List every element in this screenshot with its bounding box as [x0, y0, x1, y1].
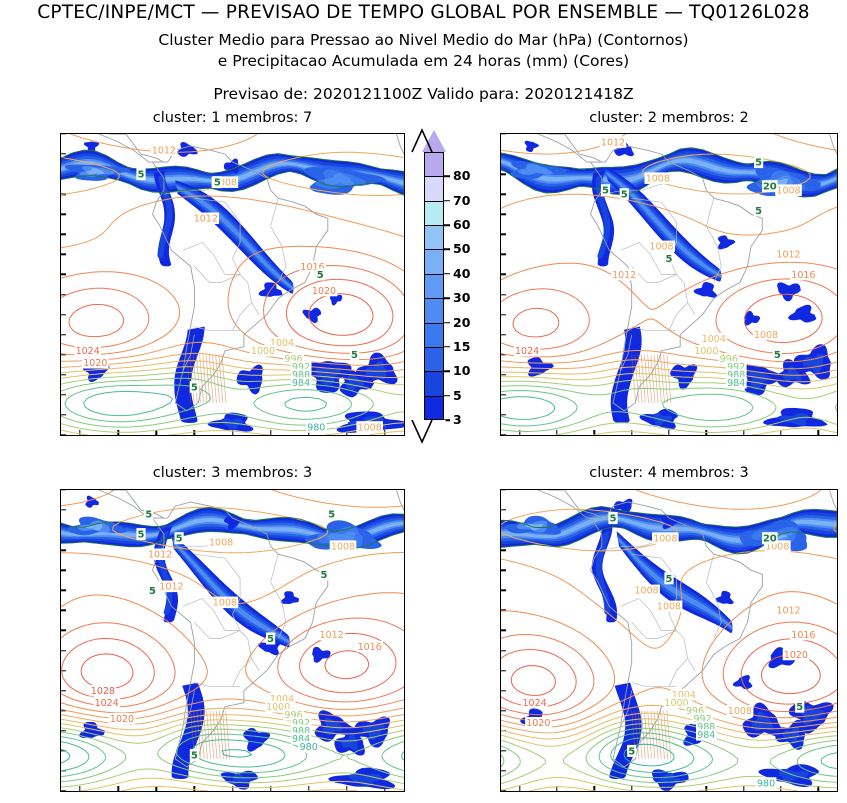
- contour-label: 1016: [791, 270, 815, 281]
- precip-fill-region: [302, 308, 321, 323]
- precip-fill-region: [312, 647, 330, 663]
- country-border: [233, 303, 252, 331]
- colorbar-band: [424, 298, 444, 322]
- colorbar-label: 80: [453, 170, 470, 183]
- contour-label: 1008: [776, 186, 800, 197]
- colorbar-band: [424, 201, 444, 225]
- colorbar-tick: [444, 395, 450, 397]
- contour-label: 1008: [646, 174, 670, 185]
- contour-label: 1012: [194, 214, 218, 225]
- precip-fill-region: [718, 235, 735, 249]
- contour-label: 5: [621, 190, 628, 201]
- precip-fill-region: [611, 327, 642, 423]
- contour-label: 1000: [694, 346, 718, 357]
- colorbar-band: [424, 347, 444, 371]
- colorbar-band: [424, 152, 444, 176]
- contour-label: 1012: [612, 270, 636, 281]
- contour-label: 1008: [728, 706, 752, 717]
- subtitle-line-2: e Precipitacao Acumulada em 24 horas (mm…: [0, 52, 847, 70]
- coastline: [830, 134, 838, 331]
- colorbar-tick: [444, 224, 450, 226]
- frontal-hatch-line: [226, 711, 230, 759]
- contour-label: 5: [351, 350, 358, 361]
- forecast-run-line: Previsao de: 2020121100Z Valido para: 20…: [0, 85, 847, 103]
- contour-label: 1012: [776, 606, 800, 617]
- colorbar-tick: [444, 371, 450, 373]
- map-panel-cluster-2[interactable]: 15N10N5NEQ5S10S15S20S25S30S35S40S45S50S5…: [500, 133, 838, 436]
- colorbar-under-arrow: [422, 420, 446, 442]
- colorbar-band: [424, 323, 444, 347]
- contour-label: 980: [307, 422, 325, 433]
- contour-label: 984: [697, 730, 715, 741]
- contour-label: 1008: [649, 242, 673, 253]
- contour-label: 5: [191, 750, 198, 761]
- colorbar-band: [424, 176, 444, 200]
- frontal-hatch-line: [216, 711, 220, 759]
- precip-fill-region: [715, 591, 733, 604]
- colorbar-label: 60: [453, 219, 470, 232]
- coastline: [531, 134, 602, 162]
- subtitle-line-1: Cluster Medio para Pressao ao Nivel Medi…: [0, 31, 847, 49]
- frontal-hatch-line: [648, 355, 652, 403]
- contour-label: 1024: [523, 698, 547, 709]
- contour-label: 5: [755, 158, 762, 169]
- colorbar-band: [424, 396, 444, 420]
- contour-label: 1024: [95, 698, 119, 709]
- contour-label: 1008: [358, 422, 382, 433]
- contour-label: 5: [628, 746, 635, 757]
- contour-label: 5: [602, 186, 609, 197]
- contour-label: 5: [666, 574, 673, 585]
- precip-fill-region: [788, 305, 816, 323]
- contour-label: 5: [176, 534, 183, 545]
- frontal-hatch-line: [651, 711, 655, 759]
- map-panel-cluster-3[interactable]: 15N10N5NEQ5S10S15S20S25S30S35S40S45S50S5…: [60, 489, 405, 792]
- contour-label: 1004: [702, 334, 726, 345]
- frontal-hatch-line: [216, 355, 220, 403]
- precip-fill-region: [525, 141, 540, 152]
- map-plot-area: 1012100810081008101210121016102410041000…: [501, 134, 837, 435]
- frontal-hatch-line: [651, 355, 655, 403]
- panel-title-cluster-1: cluster: 1 membros: 7: [60, 110, 405, 126]
- precip-fill-region: [85, 496, 99, 508]
- contour-label: 1012: [320, 630, 344, 641]
- colorbar-band: [424, 274, 444, 298]
- contour-label: 5: [149, 586, 156, 597]
- contour-label: 5: [328, 510, 335, 521]
- contour-label: 5: [214, 178, 221, 189]
- frontal-hatch-line: [654, 711, 658, 759]
- contour-label: 1020: [784, 650, 808, 661]
- contour-label: 5: [317, 270, 324, 281]
- country-border: [233, 659, 252, 687]
- contour-label: 5: [321, 570, 328, 581]
- contour-label: 980: [300, 742, 318, 753]
- contour-label: 1012: [159, 582, 183, 593]
- contour-label: 1020: [526, 718, 550, 729]
- contour-label: 20: [763, 534, 777, 545]
- panel-title-cluster-3: cluster: 3 membros: 3: [60, 465, 405, 481]
- colorbar-label: 70: [453, 194, 470, 207]
- contour-label: 1020: [110, 714, 134, 725]
- contour-label: 984: [727, 378, 745, 389]
- panel-title-cluster-2: cluster: 2 membros: 2: [500, 110, 838, 126]
- colorbar-label: 40: [453, 268, 470, 281]
- contour-label: 1020: [83, 358, 107, 369]
- frontal-hatch-line: [641, 355, 645, 403]
- contour-label: 5: [755, 206, 762, 217]
- contour-label: 5: [145, 510, 152, 521]
- precip-fill-region: [744, 311, 760, 326]
- colorbar-tick: [444, 297, 450, 299]
- colorbar-label: 10: [453, 365, 470, 378]
- contour-label: 1016: [358, 642, 382, 653]
- contour-label: 1008: [657, 602, 681, 613]
- frontal-hatch-line: [223, 711, 227, 759]
- contour-label: 5: [138, 170, 145, 181]
- map-panel-cluster-4[interactable]: 15N10N5NEQ5S10S15S20S25S30S35S40S45S50S5…: [500, 489, 838, 792]
- frontal-hatch-line: [654, 355, 658, 403]
- contour-label: 1012: [148, 550, 172, 561]
- country-border: [669, 659, 688, 687]
- isobar-984: [501, 397, 555, 420]
- precipitation-colorbar: 80706050403020151053: [424, 152, 444, 420]
- colorbar-tick: [444, 249, 450, 251]
- colorbar-label: 15: [453, 341, 470, 354]
- contour-label: 980: [757, 778, 775, 789]
- isobar-988: [65, 385, 352, 422]
- contour-label: 1012: [601, 137, 625, 148]
- country-border: [669, 303, 688, 331]
- contour-label: 5: [774, 350, 781, 361]
- precip-fill-region: [777, 282, 801, 301]
- colorbar-label: 30: [453, 292, 470, 305]
- colorbar-tick: [444, 322, 450, 324]
- contour-label: 1008: [213, 598, 237, 609]
- precip-fill-region: [281, 591, 299, 604]
- frontal-hatch-line: [638, 355, 642, 403]
- frontal-hatch-line: [212, 355, 216, 403]
- colorbar-tick: [444, 346, 450, 348]
- map-plot-area: 1008100810081008101210161020102410201004…: [501, 490, 837, 791]
- colorbar-label: 50: [453, 243, 470, 256]
- frontal-hatch-line: [667, 355, 671, 403]
- map-plot-area: 1012100810121016102010241020100410009969…: [61, 134, 404, 435]
- frontal-hatch-line: [213, 711, 217, 759]
- contour-label: 1008: [209, 538, 233, 549]
- frontal-hatch-line: [219, 355, 223, 403]
- colorbar-label: 20: [453, 316, 470, 329]
- panel-title-cluster-4: cluster: 4 membros: 3: [500, 465, 838, 481]
- contour-label: 1008: [653, 534, 677, 545]
- map-panel-cluster-1[interactable]: 15N10N5NEQ5S10S15S20S25S30S35S40S45S50S5…: [60, 133, 405, 436]
- colorbar-band: [424, 371, 444, 395]
- colorbar-label: 3: [453, 414, 462, 427]
- contour-label: 5: [796, 702, 803, 713]
- isobar-1016: [61, 246, 404, 359]
- map-plot-area: 1012100810081012100810121016102810241020…: [61, 490, 404, 791]
- contour-label: 984: [292, 378, 310, 389]
- contour-label: 5: [138, 530, 145, 541]
- contour-label: 1012: [152, 145, 176, 156]
- contour-label: 1008: [331, 542, 355, 553]
- contour-label: 1016: [791, 630, 815, 641]
- contour-label: 1008: [754, 330, 778, 341]
- contour-label: 1008: [635, 586, 659, 597]
- colorbar-band: [424, 249, 444, 273]
- colorbar-tick: [444, 176, 450, 178]
- colorbar-tick: [444, 273, 450, 275]
- contour-label: 1000: [251, 346, 275, 357]
- contour-label: 5: [191, 382, 198, 393]
- frontal-hatch-line: [641, 711, 645, 759]
- coastline: [396, 134, 404, 331]
- contour-label: 5: [666, 254, 673, 265]
- colorbar-over-arrow-outline: [422, 130, 446, 152]
- colorbar-label: 5: [453, 389, 462, 402]
- contour-label: 1024: [515, 346, 539, 357]
- isobar-1024: [69, 279, 393, 345]
- precip-fill-region: [177, 142, 197, 157]
- contour-label: 1012: [776, 250, 800, 261]
- contour-label: 5: [610, 514, 617, 525]
- contour-label: 1028: [91, 686, 115, 697]
- frontal-hatch-line: [664, 711, 668, 759]
- contour-label: 1020: [312, 286, 336, 297]
- colorbar-tick: [444, 200, 450, 202]
- colorbar-band: [424, 225, 444, 249]
- institution-title: CPTEC/INPE/MCT — PREVISAO DE TEMPO GLOBA…: [0, 2, 847, 23]
- frontal-hatch-line: [648, 711, 652, 759]
- contour-label: 1024: [76, 346, 100, 357]
- contour-label: 20: [763, 182, 777, 193]
- contour-label-layer: 1008100810081008101210161020102410201004…: [521, 512, 816, 789]
- contour-label: 5: [267, 634, 274, 645]
